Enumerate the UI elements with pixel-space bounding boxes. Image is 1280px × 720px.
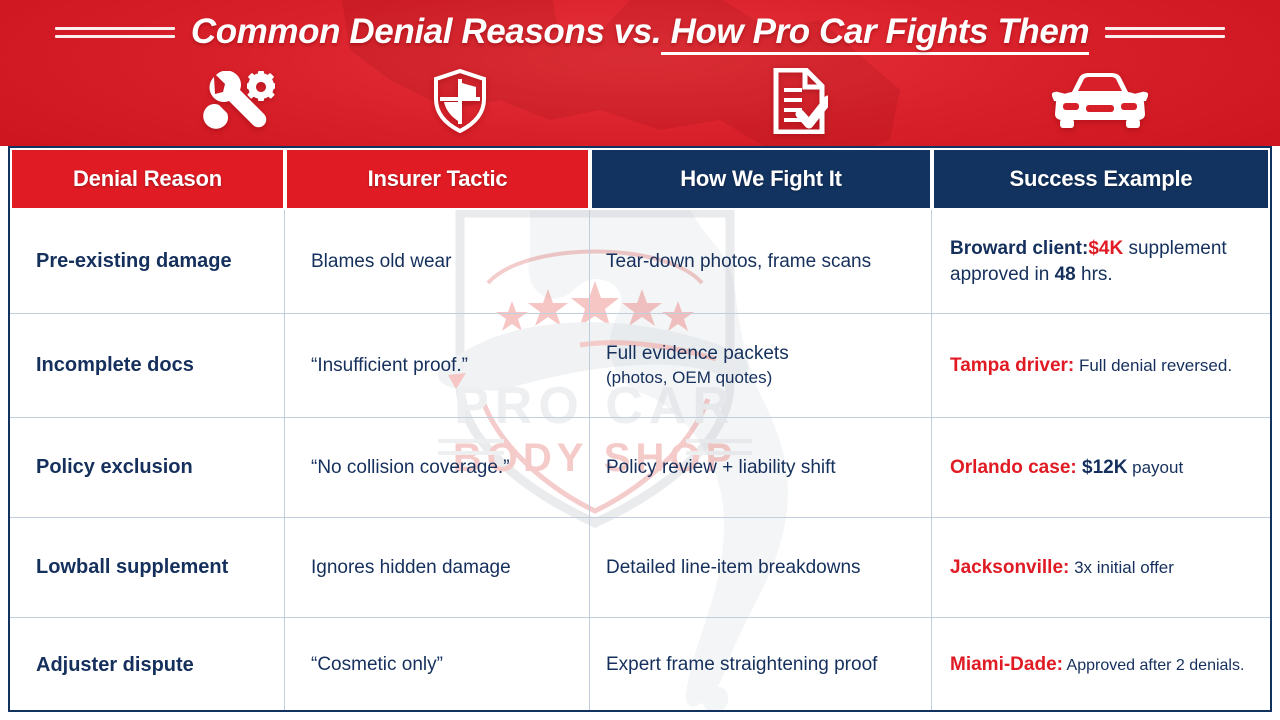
cell-insurer-tactic: Blames old wear xyxy=(311,249,451,274)
success-highlight-2: 48 xyxy=(1055,264,1076,285)
cell-insurer-tactic: “Cosmetic only” xyxy=(311,652,443,677)
cell-denial-reason: Incomplete docs xyxy=(36,352,194,379)
fight-line-1: Full evidence packets xyxy=(606,341,789,366)
header-icon-row xyxy=(0,62,1280,142)
success-rest: payout xyxy=(1127,458,1183,477)
cell-denial-reason: Policy exclusion xyxy=(36,454,193,481)
success-lead: Broward client: xyxy=(950,238,1088,259)
success-highlight: $4K xyxy=(1088,238,1123,259)
title-part1: Common Denial Reasons xyxy=(191,12,614,51)
cell-how-we-fight-it: Tear-down photos, frame scans xyxy=(606,249,871,274)
success-lead: Orlando case: xyxy=(950,457,1077,478)
column-header-insurer-tactic: Insurer Tactic xyxy=(285,148,590,210)
cell-success-example: Orlando case: $12K payout xyxy=(950,455,1183,480)
title-vs: vs. xyxy=(614,12,661,51)
cell-success-example: Broward client:$4K supplement approved i… xyxy=(950,236,1252,287)
table-row: “No collision coverage.” xyxy=(285,418,590,518)
table-row: Policy exclusion xyxy=(10,418,285,518)
table-row: Pre-existing damage xyxy=(10,210,285,314)
table-row: Ignores hidden damage xyxy=(285,518,590,618)
title-rule-left xyxy=(55,27,175,38)
table-row: Adjuster dispute xyxy=(10,618,285,712)
cell-how-we-fight-it: Full evidence packets (photos, OEM quote… xyxy=(606,341,789,389)
document-check-icon xyxy=(740,62,860,140)
column-header-success-example: Success Example xyxy=(932,148,1270,210)
column-header-denial-reason: Denial Reason xyxy=(10,148,285,210)
cell-denial-reason: Adjuster dispute xyxy=(36,652,194,679)
cell-how-we-fight-it: Expert frame straightening proof xyxy=(606,652,877,677)
success-rest: 3x initial offer xyxy=(1069,558,1174,577)
table-row: Detailed line-item breakdowns xyxy=(590,518,932,618)
cell-success-example: Jacksonville: 3x initial offer xyxy=(950,555,1174,580)
cell-how-we-fight-it: Detailed line-item breakdowns xyxy=(606,555,861,580)
table-row: Tampa driver: Full denial reversed. xyxy=(932,314,1270,418)
success-rest: Full denial reversed. xyxy=(1074,356,1232,375)
success-lead: Jacksonville: xyxy=(950,557,1069,578)
table-grid: Denial Reason Insurer Tactic How We Figh… xyxy=(10,148,1270,710)
column-header-how-we-fight-it: How We Fight It xyxy=(590,148,932,210)
cell-insurer-tactic: “No collision coverage.” xyxy=(311,455,510,480)
cell-insurer-tactic: Ignores hidden damage xyxy=(311,555,511,580)
table-row: Miami-Dade: Approved after 2 denials. xyxy=(932,618,1270,712)
success-highlight: $12K xyxy=(1077,457,1128,478)
table-row: Policy review + liability shift xyxy=(590,418,932,518)
table-row: Jacksonville: 3x initial offer xyxy=(932,518,1270,618)
success-rest: Approved after 2 denials. xyxy=(1063,657,1244,674)
title-row: Common Denial Reasons vs. How Pro Car Fi… xyxy=(0,8,1280,56)
title-part2: How Pro Car Fights Them xyxy=(661,12,1089,55)
success-lead: Tampa driver: xyxy=(950,355,1074,376)
cell-denial-reason: Lowball supplement xyxy=(36,554,228,581)
success-tail: hrs. xyxy=(1076,264,1113,285)
success-lead: Miami-Dade: xyxy=(950,654,1063,675)
tools-icon xyxy=(180,62,300,140)
fight-line-2: (photos, OEM quotes) xyxy=(606,367,789,390)
infographic-root: Common Denial Reasons vs. How Pro Car Fi… xyxy=(0,0,1280,720)
table-row: Blames old wear xyxy=(285,210,590,314)
title-rule-right xyxy=(1105,27,1225,38)
table-row: Broward client:$4K supplement approved i… xyxy=(932,210,1270,314)
table-row: “Insufficient proof.” xyxy=(285,314,590,418)
table-row: Lowball supplement xyxy=(10,518,285,618)
comparison-table: PRO CAR BODY SHOP Denial Reason Insurer … xyxy=(8,146,1272,712)
page-title: Common Denial Reasons vs. How Pro Car Fi… xyxy=(191,12,1089,52)
cell-denial-reason: Pre-existing damage xyxy=(36,248,232,275)
header-banner: Common Denial Reasons vs. How Pro Car Fi… xyxy=(0,0,1280,146)
table-row: Expert frame straightening proof xyxy=(590,618,932,712)
table-row: Tear-down photos, frame scans xyxy=(590,210,932,314)
shield-icon xyxy=(400,62,520,140)
cell-insurer-tactic: “Insufficient proof.” xyxy=(311,353,468,378)
car-icon xyxy=(1040,62,1160,140)
table-row: “Cosmetic only” xyxy=(285,618,590,712)
cell-how-we-fight-it: Policy review + liability shift xyxy=(606,455,836,480)
table-row: Full evidence packets (photos, OEM quote… xyxy=(590,314,932,418)
table-row: Orlando case: $12K payout xyxy=(932,418,1270,518)
table-row: Incomplete docs xyxy=(10,314,285,418)
cell-success-example: Miami-Dade: Approved after 2 denials. xyxy=(950,652,1244,677)
cell-success-example: Tampa driver: Full denial reversed. xyxy=(950,353,1232,378)
